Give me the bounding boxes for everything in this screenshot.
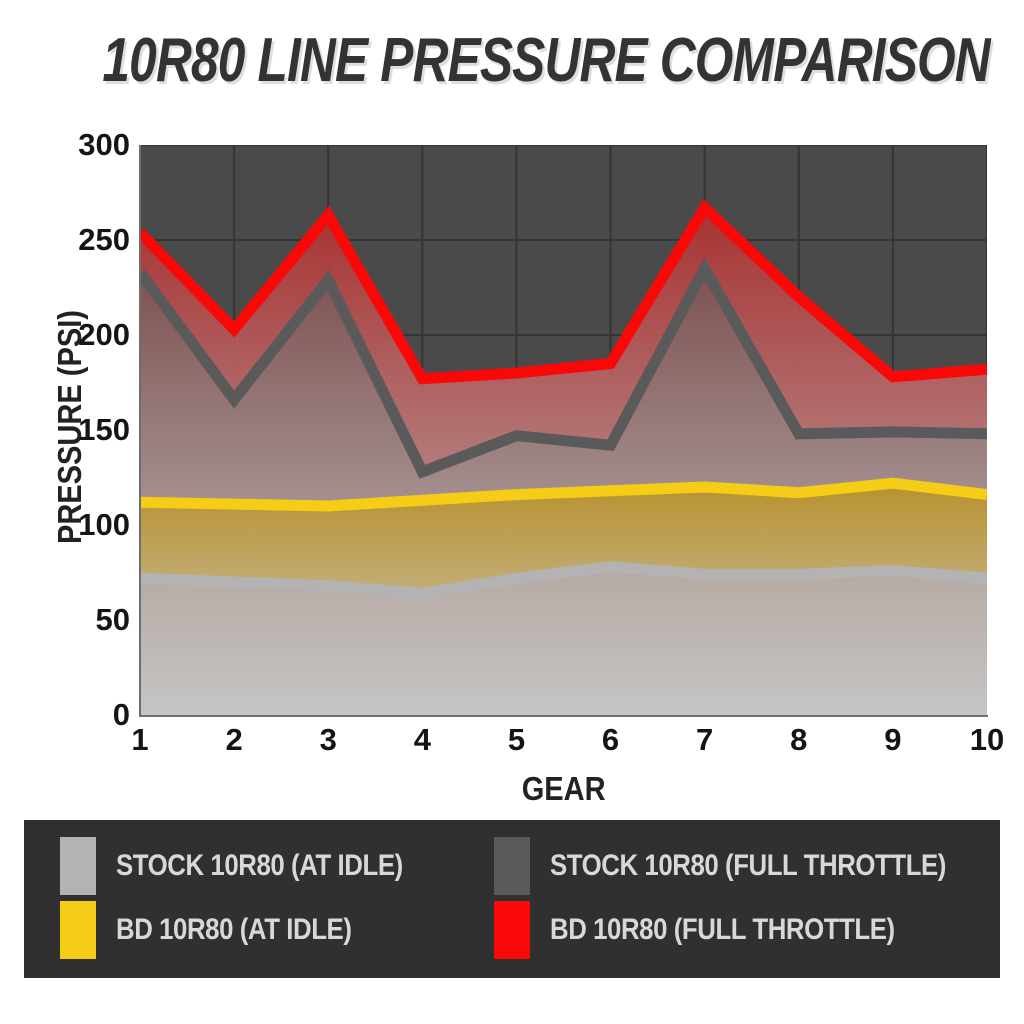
y-tick-label: 50 — [50, 602, 130, 638]
legend-label-text: BD 10R80 (AT IDLE) — [116, 913, 351, 947]
legend-label-stock_idle: STOCK 10R80 (AT IDLE) — [116, 849, 449, 883]
legend-label-bd_idle: BD 10R80 (AT IDLE) — [116, 913, 390, 947]
chart-figure: PRESSURE (PSI) 050100150200250300 123456… — [0, 118, 1024, 808]
legend-swatch-bd_idle — [60, 901, 96, 959]
x-tick-label: 7 — [696, 722, 713, 758]
y-tick-label: 300 — [50, 127, 130, 163]
legend-swatch-stock_full — [494, 837, 530, 895]
y-tick-label: 250 — [50, 222, 130, 258]
y-tick-label: 100 — [50, 507, 130, 543]
x-axis-line — [139, 715, 988, 717]
legend-swatch-stock_idle — [60, 837, 96, 895]
chart-plot-svg — [140, 145, 987, 715]
plot-area — [140, 145, 987, 715]
x-tick-label: 4 — [414, 722, 431, 758]
legend-row: STOCK 10R80 (AT IDLE)STOCK 10R80 (FULL T… — [24, 834, 1000, 898]
legend-label-text: STOCK 10R80 (AT IDLE) — [116, 849, 403, 883]
y-axis-line — [139, 145, 141, 716]
x-tick-label: 10 — [970, 722, 1004, 758]
legend-label-bd_full: BD 10R80 (FULL THROTTLE) — [550, 913, 951, 947]
x-tick-label: 9 — [884, 722, 901, 758]
series-area-stock_idle — [140, 567, 987, 715]
x-tick-label: 6 — [602, 722, 619, 758]
legend-item-bd_full[interactable]: BD 10R80 (FULL THROTTLE) — [486, 898, 986, 962]
x-axis-title-text: GEAR — [522, 770, 606, 808]
legend-swatch-bd_full — [494, 901, 530, 959]
legend-item-bd_idle[interactable]: BD 10R80 (AT IDLE) — [24, 898, 486, 962]
series-stock_idle — [140, 567, 987, 715]
legend-item-stock_full[interactable]: STOCK 10R80 (FULL THROTTLE) — [486, 834, 986, 898]
y-tick-label: 200 — [50, 317, 130, 353]
x-tick-label: 2 — [225, 722, 242, 758]
legend-label-stock_full: STOCK 10R80 (FULL THROTTLE) — [550, 849, 1010, 883]
legend-label-text: BD 10R80 (FULL THROTTLE) — [550, 913, 895, 947]
y-axis-tick-labels: 050100150200250300 — [40, 118, 130, 808]
legend-label-text: STOCK 10R80 (FULL THROTTLE) — [550, 849, 946, 883]
page-title: 10R80 LINE PRESSURE COMPARISON — [102, 28, 921, 93]
x-tick-label: 3 — [320, 722, 337, 758]
x-axis-title: GEAR — [140, 770, 987, 808]
x-tick-label: 5 — [508, 722, 525, 758]
legend-row: BD 10R80 (AT IDLE)BD 10R80 (FULL THROTTL… — [24, 898, 1000, 962]
y-tick-label: 150 — [50, 412, 130, 448]
x-tick-label: 8 — [790, 722, 807, 758]
legend-item-stock_idle[interactable]: STOCK 10R80 (AT IDLE) — [24, 834, 486, 898]
x-tick-label: 1 — [131, 722, 148, 758]
y-tick-label: 0 — [50, 697, 130, 733]
chart-legend: STOCK 10R80 (AT IDLE)STOCK 10R80 (FULL T… — [24, 820, 1000, 978]
